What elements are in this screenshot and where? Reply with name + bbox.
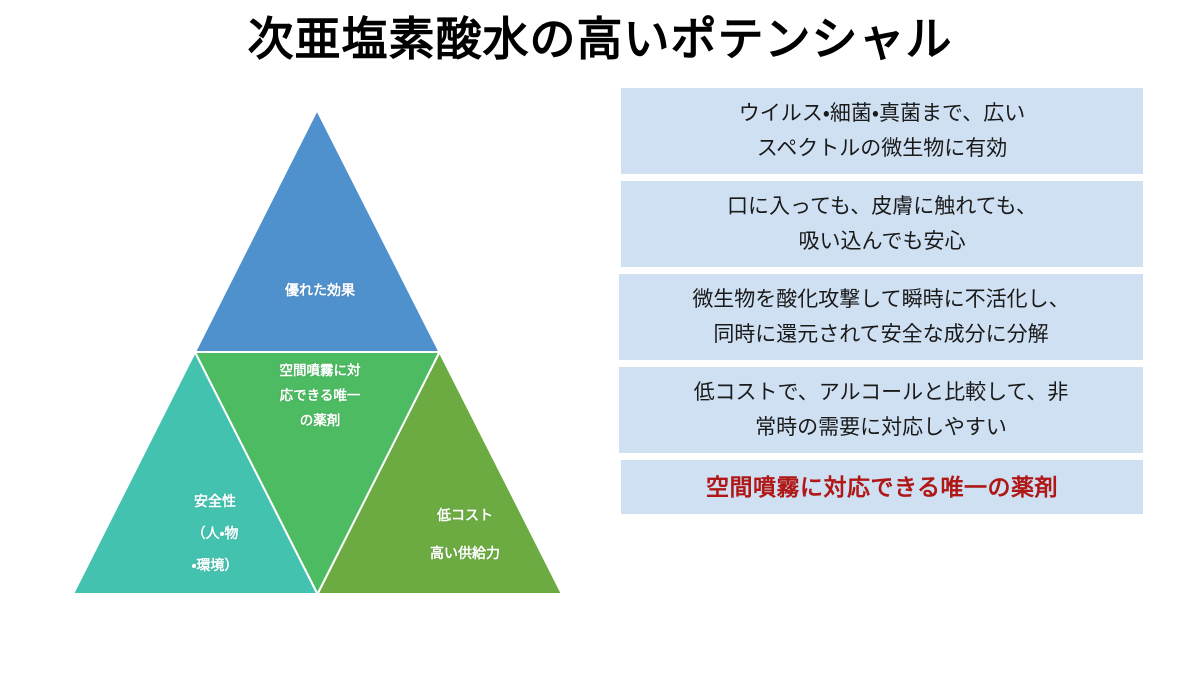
page-title: 次亜塩素酸水の高いポテンシャル: [0, 8, 1200, 70]
callout-item-efficacy: ウイルス・細菌・真菌まで、広い スペクトルの微生物に有効: [621, 88, 1143, 174]
callout-item-safety: 口に入っても、皮膚に触れても、 吸い込んでも安心: [621, 181, 1143, 267]
pyramid-diagram: 優れた効果 空間噴霧に対 応できる唯一 の薬剤 安全性 （人・物 ・環境） 低コ…: [60, 95, 580, 610]
callout-item-cost: 低コストで、アルコールと比較して、非 常時の需要に対応しやすい: [619, 367, 1143, 453]
callout-item-mechanism: 微生物を酸化攻撃して瞬時に不活化し、 同時に還元されて安全な成分に分解: [619, 274, 1143, 360]
pyramid-svg: [60, 95, 580, 610]
callout-item-spray-highlight: 空間噴霧に対応できる唯一の薬剤: [621, 460, 1143, 514]
pyramid-section-top[interactable]: [195, 110, 440, 352]
callout-list: ウイルス・細菌・真菌まで、広い スペクトルの微生物に有効 口に入っても、皮膚に触…: [621, 88, 1143, 521]
